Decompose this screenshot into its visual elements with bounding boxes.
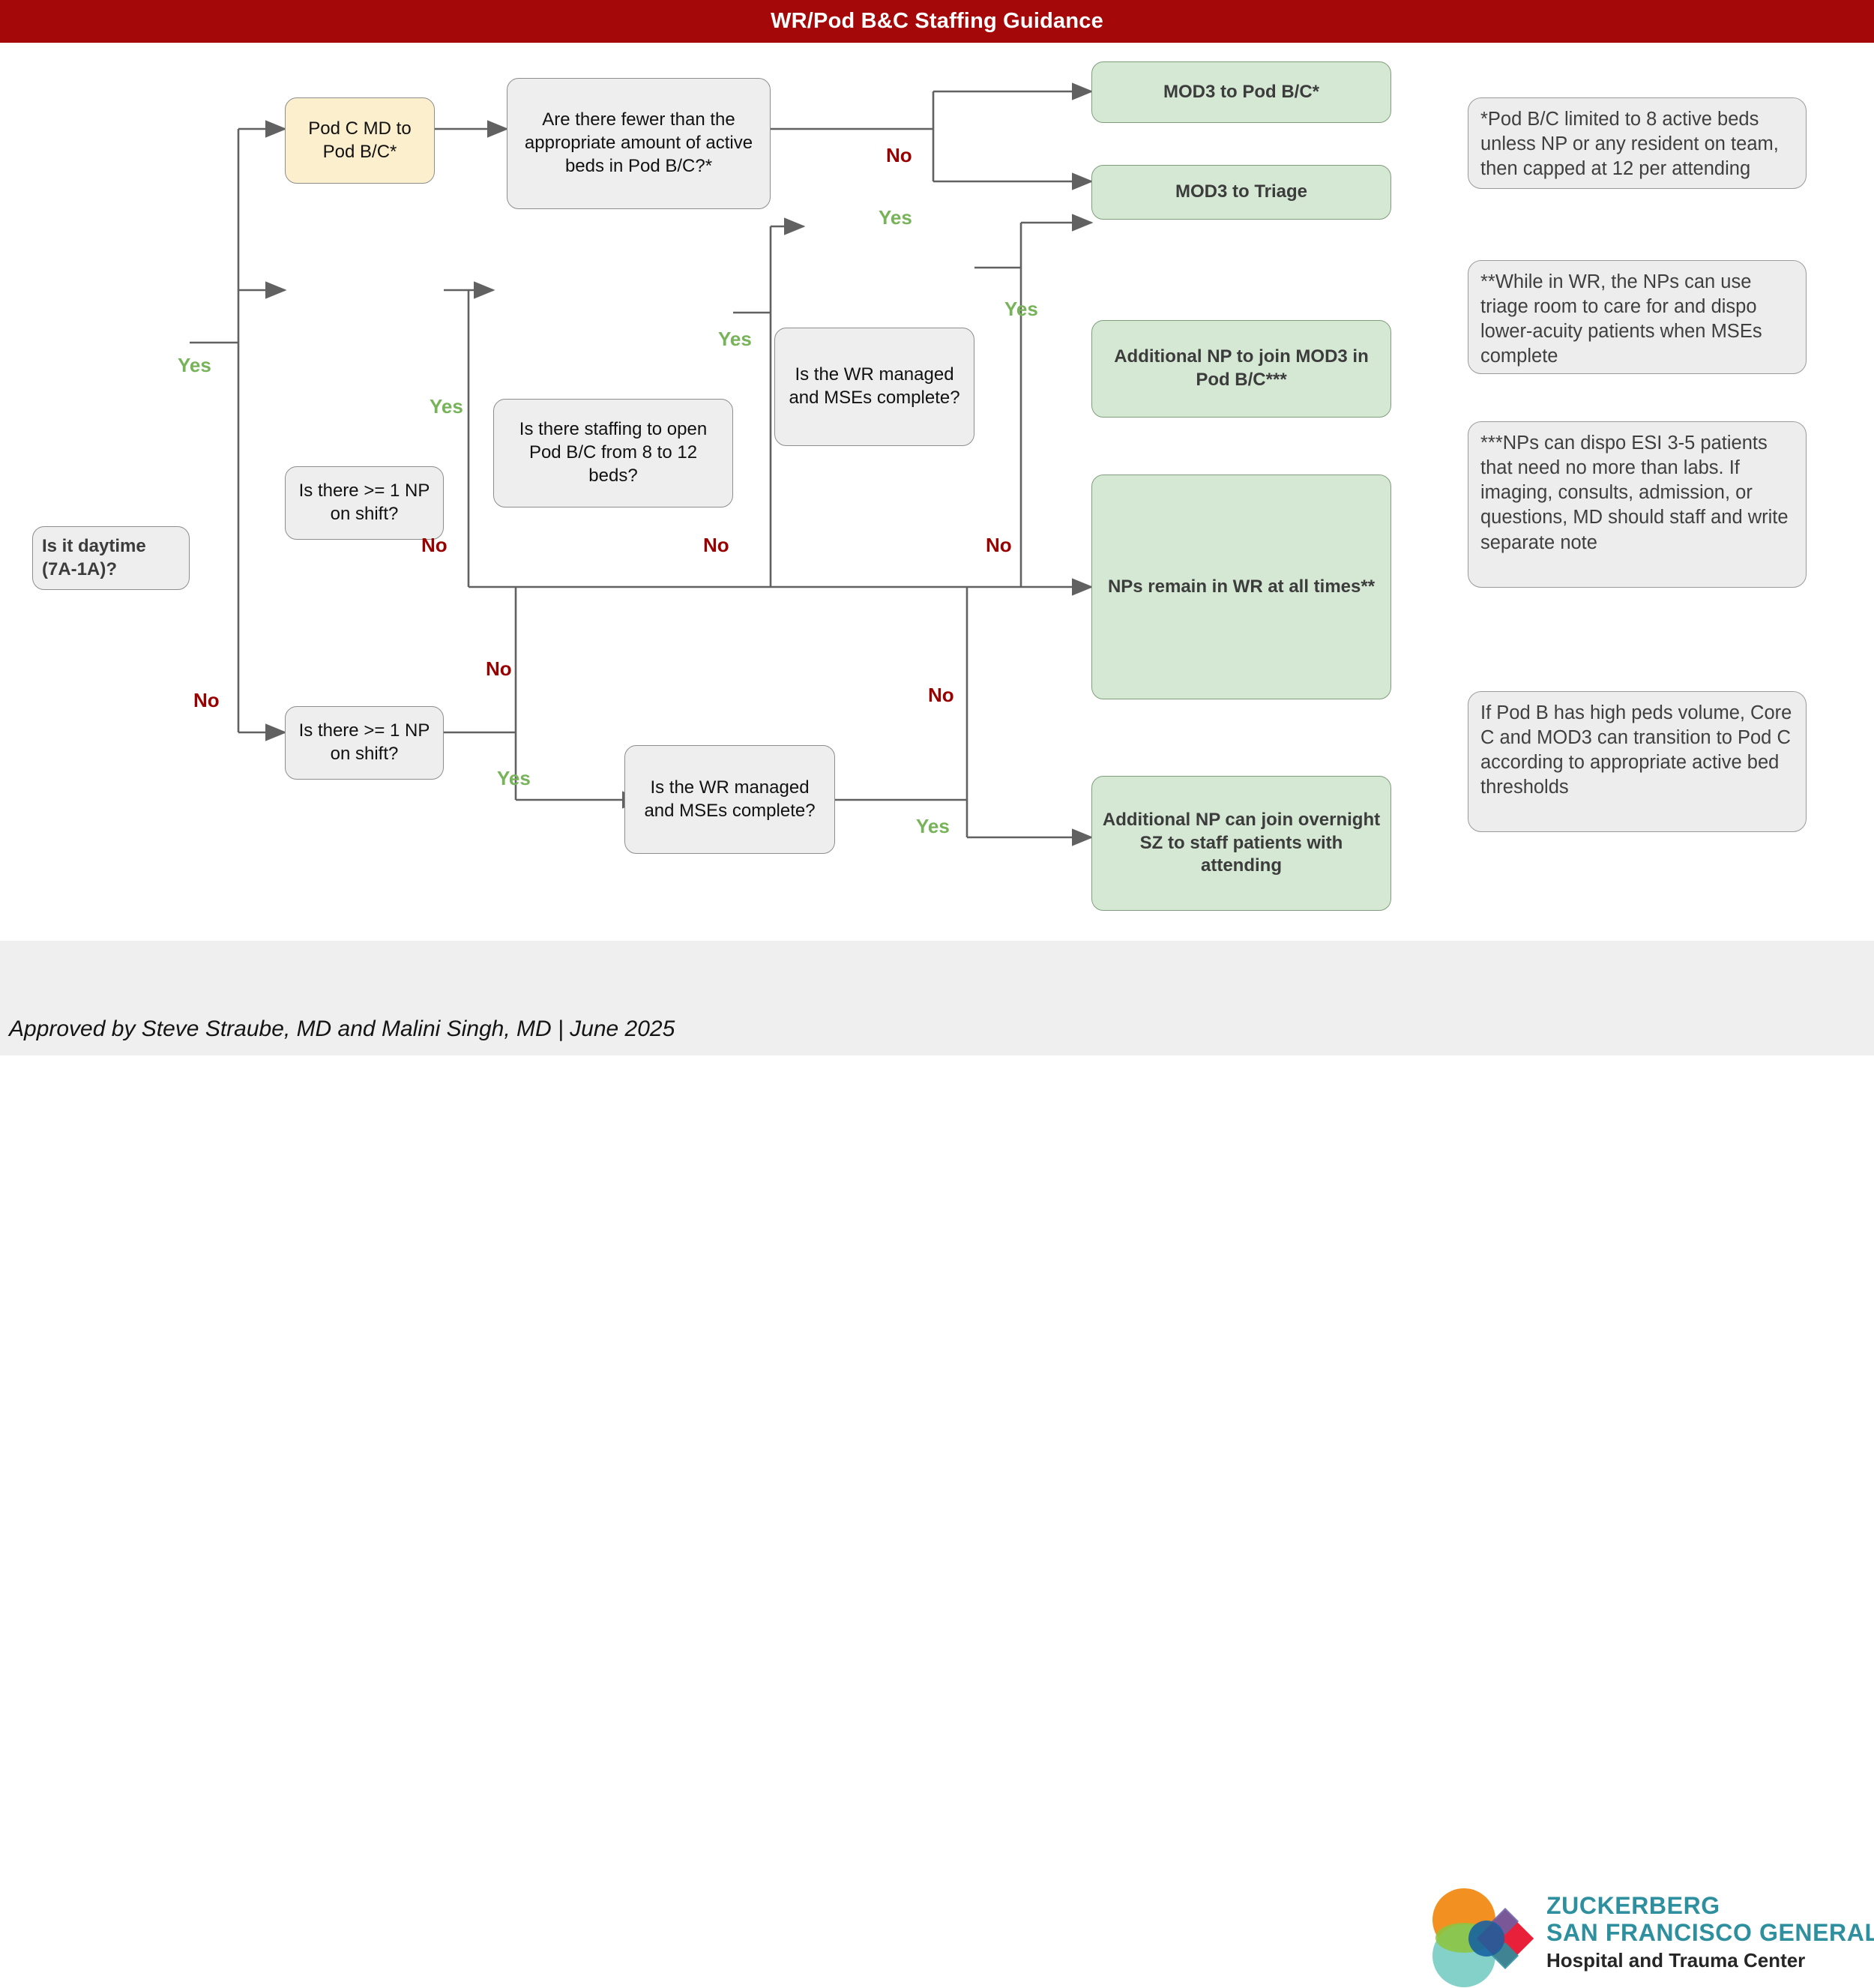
node-np-on-shift-night[interactable]: Is there >= 1 NP on shift? bbox=[285, 706, 444, 780]
node-fewer-beds-question[interactable]: Are there fewer than the appropriate amo… bbox=[507, 78, 771, 209]
node-wr-managed-mses-top[interactable]: Is the WR managed and MSEs complete? bbox=[774, 328, 974, 446]
zsfg-logo-text: ZUCKERBERG SAN FRANCISCO GENERAL Hospita… bbox=[1546, 1893, 1854, 1972]
note-wr-triage-room: **While in WR, the NPs can use triage ro… bbox=[1468, 260, 1807, 374]
node-mod3-to-pod-bc[interactable]: MOD3 to Pod B/C* bbox=[1091, 61, 1391, 123]
node-staffing-open-pod-bc[interactable]: Is there staffing to open Pod B/C from 8… bbox=[493, 399, 733, 507]
flowchart-canvas: Is it daytime (7A-1A)? Pod C MD to Pod B… bbox=[0, 43, 1874, 939]
note-np-dispo-esi: ***NPs can dispo ESI 3-5 patients that n… bbox=[1468, 421, 1807, 588]
zsfg-logo-mark bbox=[1420, 1887, 1540, 1988]
edge-label-np-day-yes: Yes bbox=[430, 395, 463, 418]
edge-label-wr-bottom-no: No bbox=[928, 684, 954, 707]
node-np-on-shift-day[interactable]: Is there >= 1 NP on shift? bbox=[285, 466, 444, 540]
edge-label-beds-yes: Yes bbox=[879, 206, 912, 229]
edge-label-np-night-no: No bbox=[486, 657, 512, 681]
logo-line-sf-general: SAN FRANCISCO GENERAL bbox=[1546, 1920, 1854, 1947]
edge-label-start-no: No bbox=[193, 689, 220, 712]
node-overnight-sz[interactable]: Additional NP can join overnight SZ to s… bbox=[1091, 776, 1391, 911]
edge-label-np-night-yes: Yes bbox=[497, 767, 531, 790]
node-additional-np-mod3[interactable]: Additional NP to join MOD3 in Pod B/C*** bbox=[1091, 320, 1391, 418]
edge-label-wr-bottom-yes: Yes bbox=[916, 815, 950, 838]
note-pod-b-peds-volume: If Pod B has high peds volume, Core C an… bbox=[1468, 691, 1807, 832]
edge-label-wr-top-yes: Yes bbox=[1004, 298, 1038, 321]
zsfg-logo: ZUCKERBERG SAN FRANCISCO GENERAL Hospita… bbox=[1420, 1887, 1855, 1988]
edge-label-start-yes: Yes bbox=[178, 354, 211, 377]
node-start-daytime[interactable]: Is it daytime (7A-1A)? bbox=[32, 526, 190, 590]
edge-label-staffing-no: No bbox=[703, 534, 729, 557]
logo-line-hospital: Hospital and Trauma Center bbox=[1546, 1949, 1854, 1972]
edge-label-beds-no: No bbox=[886, 144, 912, 167]
page-title: WR/Pod B&C Staffing Guidance bbox=[771, 9, 1103, 34]
edge-label-np-day-no: No bbox=[421, 534, 448, 557]
node-pod-c-md[interactable]: Pod C MD to Pod B/C* bbox=[285, 97, 435, 184]
header-bar: WR/Pod B&C Staffing Guidance bbox=[0, 0, 1874, 43]
note-pod-bc-bed-limit: *Pod B/C limited to 8 active beds unless… bbox=[1468, 97, 1807, 189]
approval-text: Approved by Steve Straube, MD and Malini… bbox=[9, 1016, 675, 1042]
logo-line-zuckerberg: ZUCKERBERG bbox=[1546, 1893, 1854, 1920]
footer-bar: Approved by Steve Straube, MD and Malini… bbox=[0, 939, 1874, 1055]
node-wr-managed-mses-bottom[interactable]: Is the WR managed and MSEs complete? bbox=[624, 745, 835, 854]
node-nps-remain-in-wr[interactable]: NPs remain in WR at all times** bbox=[1091, 475, 1391, 699]
node-mod3-to-triage[interactable]: MOD3 to Triage bbox=[1091, 165, 1391, 220]
edge-label-wr-top-no: No bbox=[986, 534, 1012, 557]
edge-label-staffing-yes: Yes bbox=[718, 328, 752, 351]
